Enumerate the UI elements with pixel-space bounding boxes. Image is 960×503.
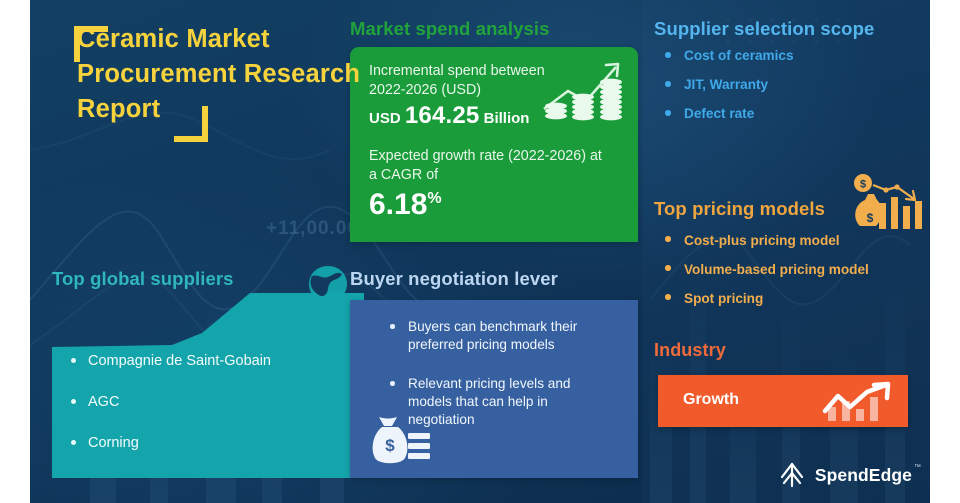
list-item-label: Corning — [88, 435, 139, 451]
supplier-scope-heading: Supplier selection scope — [654, 18, 874, 40]
background-ghost-number: +11,00.00 — [266, 218, 359, 240]
infographic-canvas: +11,00.00 Ceramic Market Procurement Res… — [30, 0, 930, 503]
bullet-dot-icon — [71, 358, 76, 363]
global-suppliers-list: Compagnie de Saint-Gobain AGC Corning — [58, 352, 358, 475]
svg-text:$: $ — [860, 179, 866, 191]
supplier-scope-list: Cost of ceramics JIT, Warranty Defect ra… — [658, 48, 908, 135]
spendedge-logo: SpendEdge ™ — [777, 461, 912, 489]
list-item: JIT, Warranty — [658, 77, 908, 93]
market-spend-card: Incremental spend between 2022-2026 (USD… — [350, 47, 638, 242]
title-line-1: Ceramic Market — [77, 22, 392, 57]
industry-status-label: Growth — [683, 391, 739, 409]
industry-heading: Industry — [654, 340, 726, 361]
logo-name: SpendEdge — [815, 465, 912, 485]
spendedge-chevron-icon — [777, 461, 807, 489]
spend-amount: 164.25 — [405, 102, 480, 129]
cagr-number: 6.18 — [369, 188, 427, 221]
bullet-dot-icon — [71, 399, 76, 404]
list-item: Defect rate — [658, 106, 908, 122]
bullet-dot-icon — [665, 236, 671, 242]
bullet-dot-icon — [665, 81, 671, 87]
bullet-dot-icon — [71, 440, 76, 445]
logo-text: SpendEdge ™ — [815, 465, 912, 486]
title-line-3: Report — [77, 92, 392, 127]
list-item: Spot pricing — [658, 290, 873, 307]
list-item: AGC — [58, 393, 358, 411]
logo-trademark: ™ — [914, 464, 921, 471]
pricing-bar-chart-icon: $ $ — [852, 172, 924, 234]
title-line-2: Procurement Research — [77, 57, 392, 92]
bullet-dot-icon — [665, 265, 671, 271]
list-item-label: Compagnie de Saint-Gobain — [88, 353, 271, 369]
spend-unit: Billion — [484, 110, 530, 127]
growth-rate-label: Expected growth rate (2022-2026) at a CA… — [369, 147, 609, 185]
bullet-dot-icon — [665, 110, 671, 116]
list-item: Buyers can benchmark their preferred pri… — [380, 318, 615, 354]
list-item-label: Defect rate — [684, 106, 754, 121]
cagr-value: 6.18% — [369, 189, 442, 214]
buyer-negotiation-heading: Buyer negotiation lever — [350, 268, 558, 290]
list-item: Compagnie de Saint-Gobain — [58, 352, 358, 370]
industry-status-card: Growth — [658, 375, 908, 427]
list-item: Corning — [58, 434, 358, 452]
list-item-label: Buyers can benchmark their preferred pri… — [408, 319, 577, 352]
svg-text:$: $ — [385, 436, 395, 455]
pricing-models-list: Cost-plus pricing model Volume-based pri… — [658, 232, 873, 319]
bullet-dot-icon — [390, 381, 395, 386]
list-item: Cost of ceramics — [658, 48, 908, 64]
bullet-dot-icon — [665, 294, 671, 300]
pricing-models-heading: Top pricing models — [654, 198, 825, 220]
money-bag-icon: $ — [368, 412, 434, 470]
growth-arrow-chart-icon — [822, 381, 898, 423]
list-item: Cost-plus pricing model — [658, 232, 873, 249]
incremental-spend-label: Incremental spend between 2022-2026 (USD… — [369, 62, 584, 100]
page-title: Ceramic Market Procurement Research Repo… — [62, 22, 392, 127]
incremental-spend-value: USD 164.25 Billion — [369, 106, 529, 128]
buyer-negotiation-card: Buyers can benchmark their preferred pri… — [350, 300, 638, 478]
list-item-label: Cost of ceramics — [684, 48, 794, 63]
list-item-label: AGC — [88, 394, 119, 410]
list-item-label: Spot pricing — [684, 291, 763, 306]
list-item-label: Cost-plus pricing model — [684, 233, 840, 248]
bullet-dot-icon — [665, 52, 671, 58]
list-item-label: Volume-based pricing model — [684, 262, 869, 277]
cagr-percent-symbol: % — [427, 190, 441, 207]
global-suppliers-heading: Top global suppliers — [52, 268, 234, 290]
list-item-label: JIT, Warranty — [684, 77, 768, 92]
svg-text:$: $ — [867, 211, 874, 225]
bullet-dot-icon — [390, 324, 395, 329]
list-item: Volume-based pricing model — [658, 261, 873, 278]
